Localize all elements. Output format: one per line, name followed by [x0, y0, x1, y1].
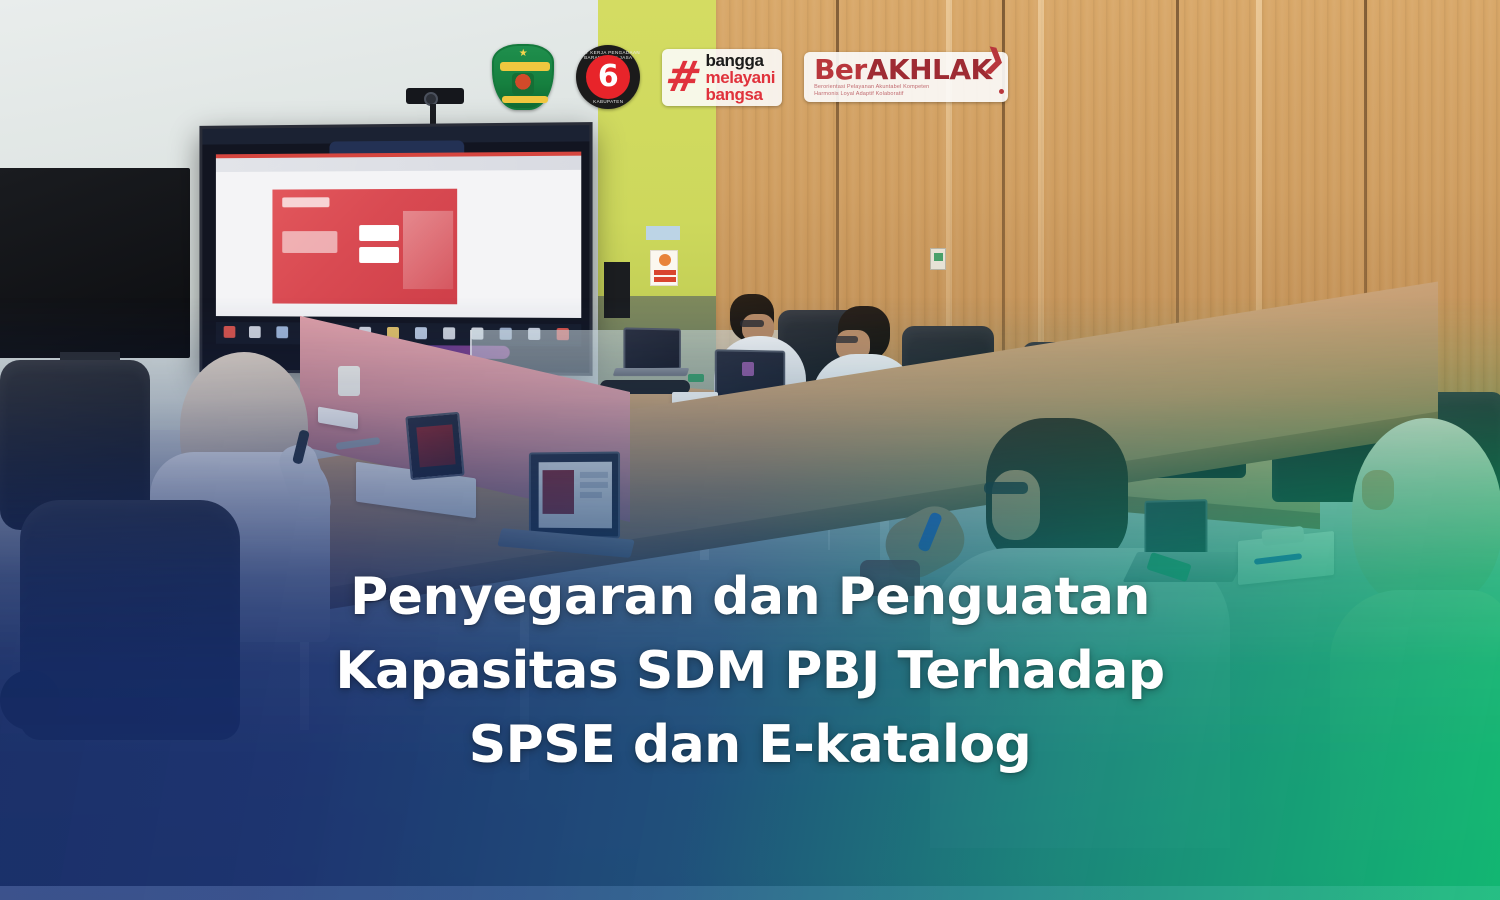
banner-title: Penyegaran dan Penguatan Kapasitas SDM P…: [0, 560, 1500, 782]
berakhlak-prefix: Ber: [814, 53, 867, 86]
logo-kabupaten-crest: ★: [492, 44, 554, 110]
wall-equipment: [604, 262, 630, 318]
laptop: [1144, 499, 1207, 557]
berakhlak-subtitle-1: Berorientasi Pelayanan Akuntabel Kompete…: [814, 84, 929, 91]
star-icon: ★: [519, 49, 528, 59]
bangga-line-2: melayani: [705, 69, 775, 86]
title-line-2: Kapasitas SDM PBJ Terhadap: [0, 634, 1500, 708]
laptop: [623, 327, 681, 370]
eyeglasses-icon: [984, 482, 1028, 494]
laptop-foreground: [529, 452, 620, 539]
logo-bangga-melayani-bangsa: # bangga melayani bangsa: [662, 49, 782, 106]
cup: [338, 366, 360, 396]
logo-upt-pbj-seal: UNIT KERJA PENGADAAN BARANG DAN JASA 6 K…: [576, 45, 640, 109]
wall-switch: [930, 248, 946, 270]
poster-jalur-evakuasi: [650, 250, 678, 286]
bangga-line-1: bangga: [705, 52, 775, 69]
logo-row: ★ UNIT KERJA PENGADAAN BARANG DAN JASA 6…: [0, 44, 1500, 110]
tablet: [405, 412, 464, 480]
title-line-1: Penyegaran dan Penguatan: [0, 560, 1500, 634]
title-line-3: SPSE dan E-katalog: [0, 708, 1500, 782]
bangga-line-3: bangsa: [705, 86, 775, 103]
logo-berakhlak: ❯ BerAKHLAK Berorientasi Pelayanan Akunt…: [804, 52, 1008, 102]
wall-sign-blue: [646, 226, 680, 240]
seal-glyph: 6: [598, 62, 619, 92]
seal-text-bottom: KABUPATEN: [576, 99, 640, 104]
swoosh-icon: ❯: [981, 44, 1008, 74]
berakhlak-caps: AKHLAK: [867, 53, 992, 86]
hash-icon: #: [663, 59, 705, 95]
dot-icon: [999, 89, 1004, 94]
berakhlak-subtitle-2: Harmonis Loyal Adaptif Kolaboratif: [814, 91, 903, 98]
side-monitor: [0, 168, 190, 358]
event-banner: ★ UNIT KERJA PENGADAAN BARANG DAN JASA 6…: [0, 0, 1500, 900]
presentation-slide: [272, 189, 457, 305]
